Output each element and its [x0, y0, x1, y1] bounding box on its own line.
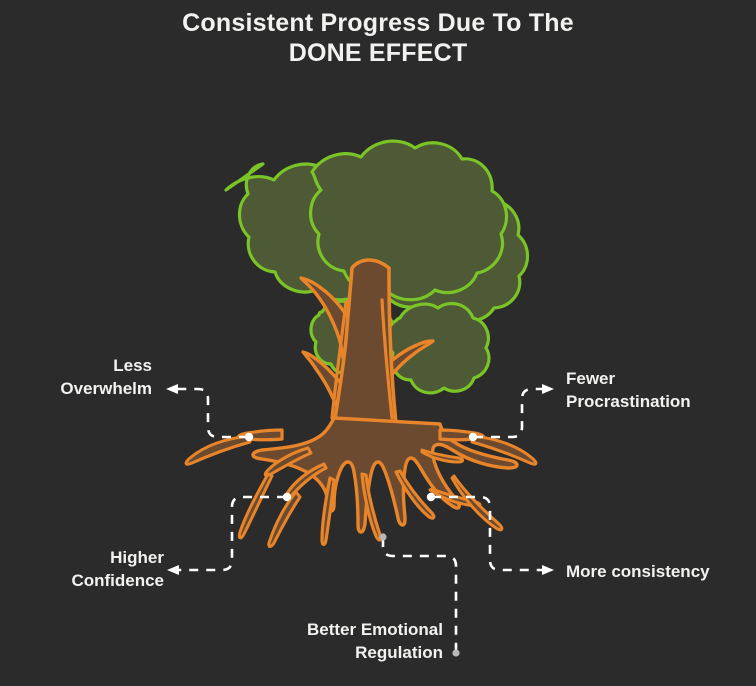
end-dot-better-emotional-regulation [452, 649, 459, 656]
arrowhead-more-consistency [542, 565, 554, 575]
label-less-overwhelm: Less Overwhelm [0, 354, 152, 400]
anchor-dot-more-consistency [427, 493, 435, 501]
anchor-dot-less-overwhelm [245, 433, 253, 441]
connector-less-overwhelm [172, 389, 248, 437]
arrowhead-higher-confidence [167, 565, 179, 575]
anchor-dot-higher-confidence [283, 493, 291, 501]
root-sweep-left [239, 474, 272, 538]
arrowhead-less-overwhelm [166, 384, 178, 394]
anchor-dot-fewer-procrastination [469, 433, 477, 441]
label-more-consistency: More consistency [566, 560, 756, 583]
connector-fewer-procrastination [474, 389, 548, 437]
connector-more-consistency [432, 497, 548, 570]
canopy-bush-small-right [387, 303, 489, 392]
label-fewer-procrastination: Fewer Procrastination [566, 367, 756, 413]
root-branch-left-tip [186, 436, 250, 464]
infographic-page: Consistent Progress Due To The DONE EFFE… [0, 0, 756, 686]
anchor-dot-better-emotional-regulation [379, 533, 386, 540]
arrowhead-fewer-procrastination [542, 384, 554, 394]
label-better-emotional-regulation: Better Emotional Regulation [183, 618, 443, 664]
connector-higher-confidence [173, 497, 286, 570]
label-higher-confidence: Higher Confidence [0, 546, 164, 592]
roots-group [186, 418, 536, 547]
